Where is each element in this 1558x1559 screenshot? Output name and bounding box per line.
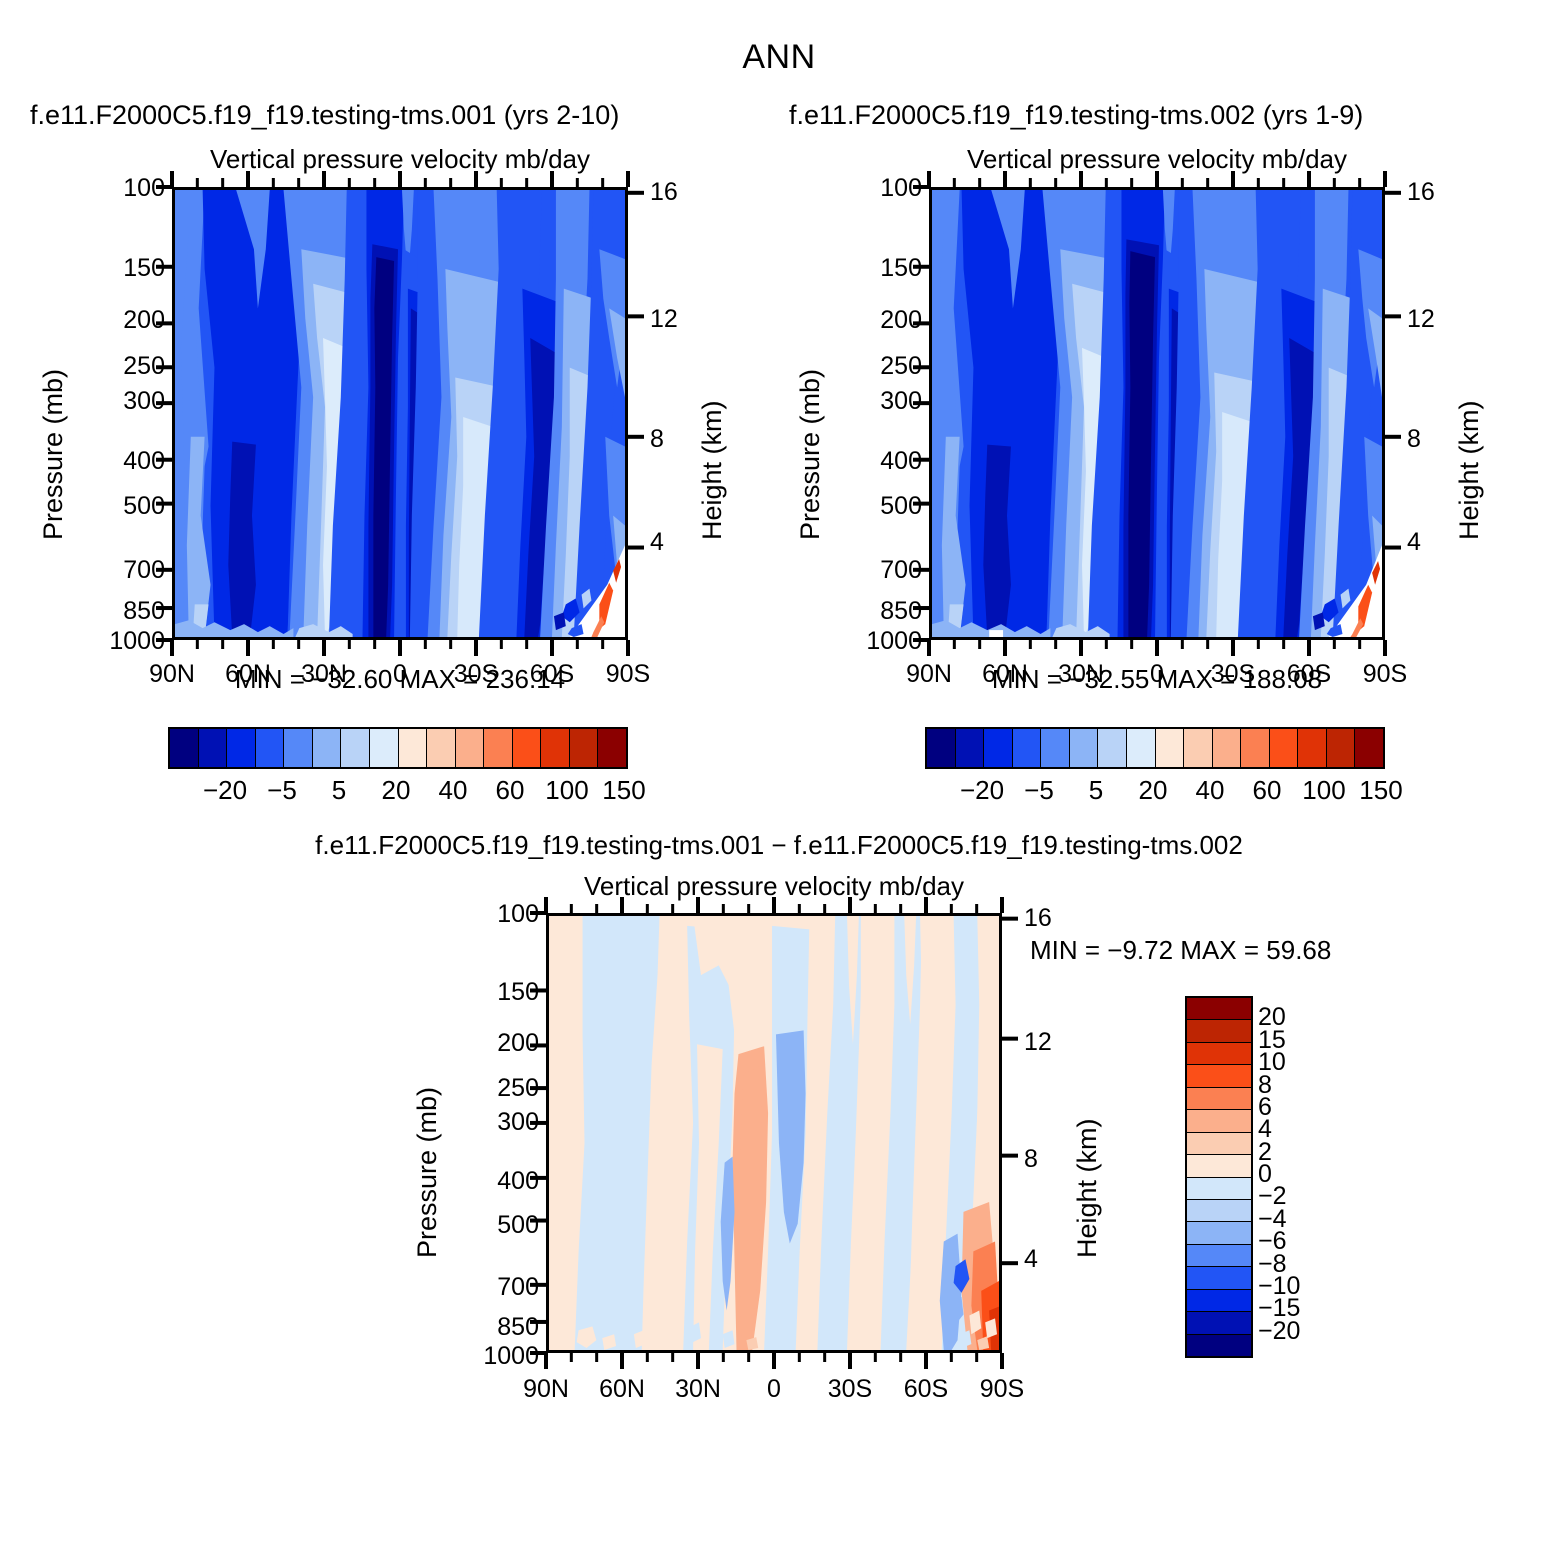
y2tick-4: 4 <box>1407 528 1421 557</box>
colorbar-diff-cell-6 <box>1187 1133 1251 1155</box>
ytick-200: 200 <box>817 306 922 335</box>
ytick-1000: 1000 <box>418 1342 539 1371</box>
ytick-400: 400 <box>817 447 922 476</box>
ytick-500: 500 <box>60 492 165 521</box>
colorbar-tick-150: 150 <box>1337 775 1425 806</box>
variable-title-left: Vertical pressure velocity mb/day <box>172 144 628 175</box>
colorbar-cell-14 <box>570 729 599 767</box>
colorbar-cell-0 <box>927 729 956 767</box>
colorbar-cell-11 <box>484 729 513 767</box>
colorbar-diff-cell-14 <box>1187 1312 1251 1334</box>
ytick-400: 400 <box>60 447 165 476</box>
ytick-200: 200 <box>434 1029 539 1058</box>
yaxis-label-right: Pressure (mb) <box>795 369 826 540</box>
y2tick-4: 4 <box>1024 1245 1038 1274</box>
colorbar-cell-13 <box>1298 729 1327 767</box>
ytick-1000: 1000 <box>44 627 165 656</box>
y2axis-label-right: Height (km) <box>1454 400 1485 540</box>
colorbar-cell-4 <box>1041 729 1070 767</box>
colorbar-diff-cell-12 <box>1187 1267 1251 1289</box>
xtick-30S: 30S <box>810 1375 890 1404</box>
colorbar-diff-cell-13 <box>1187 1290 1251 1312</box>
ytick-250: 250 <box>60 352 165 381</box>
ytick-700: 700 <box>817 556 922 585</box>
xtick-90N: 90N <box>506 1375 586 1404</box>
colorbar-cell-12 <box>1270 729 1299 767</box>
y2tick-16: 16 <box>650 178 678 207</box>
colorbar-cell-15 <box>598 729 626 767</box>
colorbar-cell-4 <box>284 729 313 767</box>
colorbar-cell-12 <box>513 729 542 767</box>
colorbar-left[interactable] <box>168 727 628 769</box>
colorbar-diff-cell-15 <box>1187 1335 1251 1356</box>
colorbar-diff-cell-7 <box>1187 1155 1251 1177</box>
minmax-diff: MIN = −9.72 MAX = 59.68 <box>1030 935 1430 966</box>
ytick-500: 500 <box>434 1211 539 1240</box>
contour-field-left <box>175 190 625 637</box>
ytick-500: 500 <box>817 492 922 521</box>
xtick-60N: 60N <box>582 1375 662 1404</box>
y2tick-4: 4 <box>650 528 664 557</box>
ytick-850: 850 <box>434 1313 539 1342</box>
contour-field-diff <box>549 916 999 1350</box>
colorbar-diff-cell-8 <box>1187 1178 1251 1200</box>
minmax-right: MIN = −32.55 MAX = 188.08 <box>887 664 1427 695</box>
contour-field-right <box>932 190 1382 637</box>
y2axis-label-diff: Height (km) <box>1072 1118 1103 1258</box>
ytick-700: 700 <box>60 556 165 585</box>
xtick-30N: 30N <box>658 1375 738 1404</box>
ytick-1000: 1000 <box>801 627 922 656</box>
y2tick-8: 8 <box>1407 425 1421 454</box>
ytick-700: 700 <box>434 1273 539 1302</box>
colorbar-cell-3 <box>256 729 285 767</box>
ytick-850: 850 <box>817 597 922 626</box>
colorbar-diff-cell-10 <box>1187 1222 1251 1244</box>
colorbar-cell-8 <box>1156 729 1185 767</box>
colorbar-diff-cell-1 <box>1187 1020 1251 1042</box>
colorbar-cell-10 <box>1213 729 1242 767</box>
xtick-90S: 90S <box>962 1375 1042 1404</box>
ytick-300: 300 <box>60 387 165 416</box>
colorbar-cell-11 <box>1241 729 1270 767</box>
case-title-left: f.e11.F2000C5.f19_f19.testing-tms.001 (y… <box>30 100 619 131</box>
xtick-60S: 60S <box>886 1375 966 1404</box>
colorbar-cell-14 <box>1327 729 1356 767</box>
colorbar-diff[interactable] <box>1185 996 1253 1358</box>
colorbar-cell-1 <box>956 729 985 767</box>
ytick-250: 250 <box>434 1074 539 1103</box>
ytick-200: 200 <box>60 306 165 335</box>
colorbar-cell-8 <box>399 729 428 767</box>
colorbar-diff-cell-5 <box>1187 1110 1251 1132</box>
colorbar-cell-1 <box>199 729 228 767</box>
variable-title-diff: Vertical pressure velocity mb/day <box>546 871 1002 902</box>
contour-plot-diff[interactable] <box>546 913 1002 1353</box>
colorbar-diff-cell-2 <box>1187 1043 1251 1065</box>
yaxis-label-left: Pressure (mb) <box>38 369 69 540</box>
ytick-250: 250 <box>817 352 922 381</box>
colorbar-cell-6 <box>1098 729 1127 767</box>
variable-title-right: Vertical pressure velocity mb/day <box>929 144 1385 175</box>
ytick-300: 300 <box>434 1108 539 1137</box>
colorbar-cell-0 <box>170 729 199 767</box>
ytick-100: 100 <box>817 174 922 203</box>
case-title-right: f.e11.F2000C5.f19_f19.testing-tms.002 (y… <box>789 100 1363 131</box>
minmax-left: MIN = −32.60 MAX = 236.14 <box>130 664 670 695</box>
xtick-0: 0 <box>734 1375 814 1404</box>
colorbar-diff-cell-0 <box>1187 998 1251 1020</box>
ytick-150: 150 <box>817 254 922 283</box>
colorbar-cell-13 <box>541 729 570 767</box>
y2tick-12: 12 <box>1024 1028 1052 1057</box>
colorbar-tick-150: 150 <box>580 775 668 806</box>
ytick-300: 300 <box>817 387 922 416</box>
ytick-100: 100 <box>60 174 165 203</box>
ytick-150: 150 <box>434 978 539 1007</box>
colorbar-cell-9 <box>427 729 456 767</box>
y2axis-label-left: Height (km) <box>697 400 728 540</box>
colorbar-cell-7 <box>1127 729 1156 767</box>
colorbar-cell-5 <box>1070 729 1099 767</box>
colorbar-diff-tick-14: −20 <box>1258 1317 1300 1346</box>
colorbar-cell-5 <box>313 729 342 767</box>
colorbar-diff-cell-4 <box>1187 1088 1251 1110</box>
colorbar-cell-15 <box>1355 729 1383 767</box>
page-title: ANN <box>0 38 1558 77</box>
colorbar-right[interactable] <box>925 727 1385 769</box>
colorbar-cell-10 <box>456 729 485 767</box>
y2tick-8: 8 <box>1024 1145 1038 1174</box>
yaxis-label-diff: Pressure (mb) <box>412 1087 443 1258</box>
contour-plot-right[interactable] <box>929 187 1385 640</box>
colorbar-cell-2 <box>984 729 1013 767</box>
colorbar-cell-9 <box>1184 729 1213 767</box>
diff-case-title: f.e11.F2000C5.f19_f19.testing-tms.001 − … <box>0 830 1558 861</box>
y2tick-12: 12 <box>650 305 678 334</box>
ytick-100: 100 <box>434 900 539 929</box>
y2tick-12: 12 <box>1407 305 1435 334</box>
colorbar-cell-6 <box>341 729 370 767</box>
y2tick-8: 8 <box>650 425 664 454</box>
y2tick-16: 16 <box>1407 178 1435 207</box>
colorbar-cell-3 <box>1013 729 1042 767</box>
ytick-850: 850 <box>60 597 165 626</box>
contour-plot-left[interactable] <box>172 187 628 640</box>
colorbar-diff-cell-9 <box>1187 1200 1251 1222</box>
y2tick-16: 16 <box>1024 904 1052 933</box>
colorbar-diff-cell-11 <box>1187 1245 1251 1267</box>
colorbar-cell-7 <box>370 729 399 767</box>
ytick-400: 400 <box>434 1167 539 1196</box>
colorbar-diff-cell-3 <box>1187 1065 1251 1087</box>
ytick-150: 150 <box>60 254 165 283</box>
colorbar-cell-2 <box>227 729 256 767</box>
